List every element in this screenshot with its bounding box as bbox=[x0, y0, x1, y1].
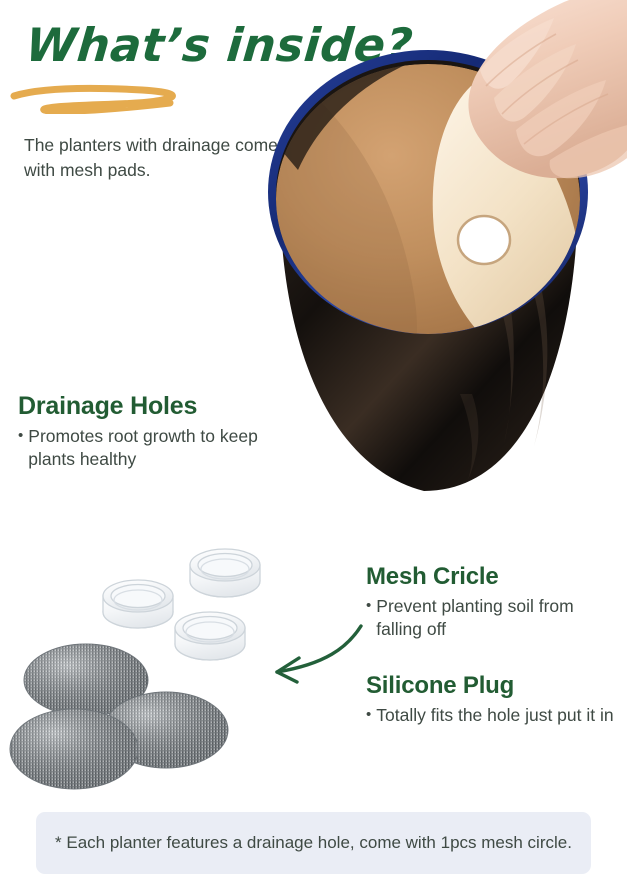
footer-note-text: * Each planter features a drainage hole,… bbox=[55, 831, 572, 854]
section-title-mesh-circle: Mesh Cricle bbox=[366, 563, 618, 591]
mesh-circles-image bbox=[8, 636, 256, 801]
bullet-marker-icon: • bbox=[366, 704, 371, 726]
bullet-marker-icon: • bbox=[366, 595, 371, 617]
plug-2 bbox=[190, 549, 260, 597]
bullet-text-drainage-holes: Promotes root growth to keep plants heal… bbox=[28, 425, 268, 472]
section-title-drainage-holes: Drainage Holes bbox=[18, 392, 268, 421]
infographic-page: What’s inside? The planters with drainag… bbox=[0, 0, 627, 879]
curved-arrow-icon bbox=[243, 600, 373, 690]
hand bbox=[468, 0, 627, 178]
mesh-disc-3 bbox=[10, 709, 138, 789]
bullet-mesh-circle: • Prevent planting soil from falling off bbox=[366, 595, 618, 642]
section-silicone-plug: Silicone Plug • Totally fits the hole ju… bbox=[366, 672, 618, 727]
footer-note: * Each planter features a drainage hole,… bbox=[36, 812, 591, 874]
section-mesh-circle: Mesh Cricle • Prevent planting soil from… bbox=[366, 563, 618, 641]
bullet-text-mesh-circle: Prevent planting soil from falling off bbox=[376, 595, 618, 642]
bullet-silicone-plug: • Totally fits the hole just put it in bbox=[366, 704, 618, 727]
plug-1 bbox=[103, 580, 173, 628]
bullet-marker-icon: • bbox=[18, 425, 23, 447]
section-drainage-holes: Drainage Holes • Promotes root growth to… bbox=[18, 392, 268, 471]
title-underline-swash bbox=[10, 84, 206, 114]
section-title-silicone-plug: Silicone Plug bbox=[366, 672, 618, 700]
bullet-text-silicone-plug: Totally fits the hole just put it in bbox=[376, 704, 618, 727]
bullet-drainage-holes: • Promotes root growth to keep plants he… bbox=[18, 425, 268, 472]
planter-photo bbox=[228, 0, 627, 524]
